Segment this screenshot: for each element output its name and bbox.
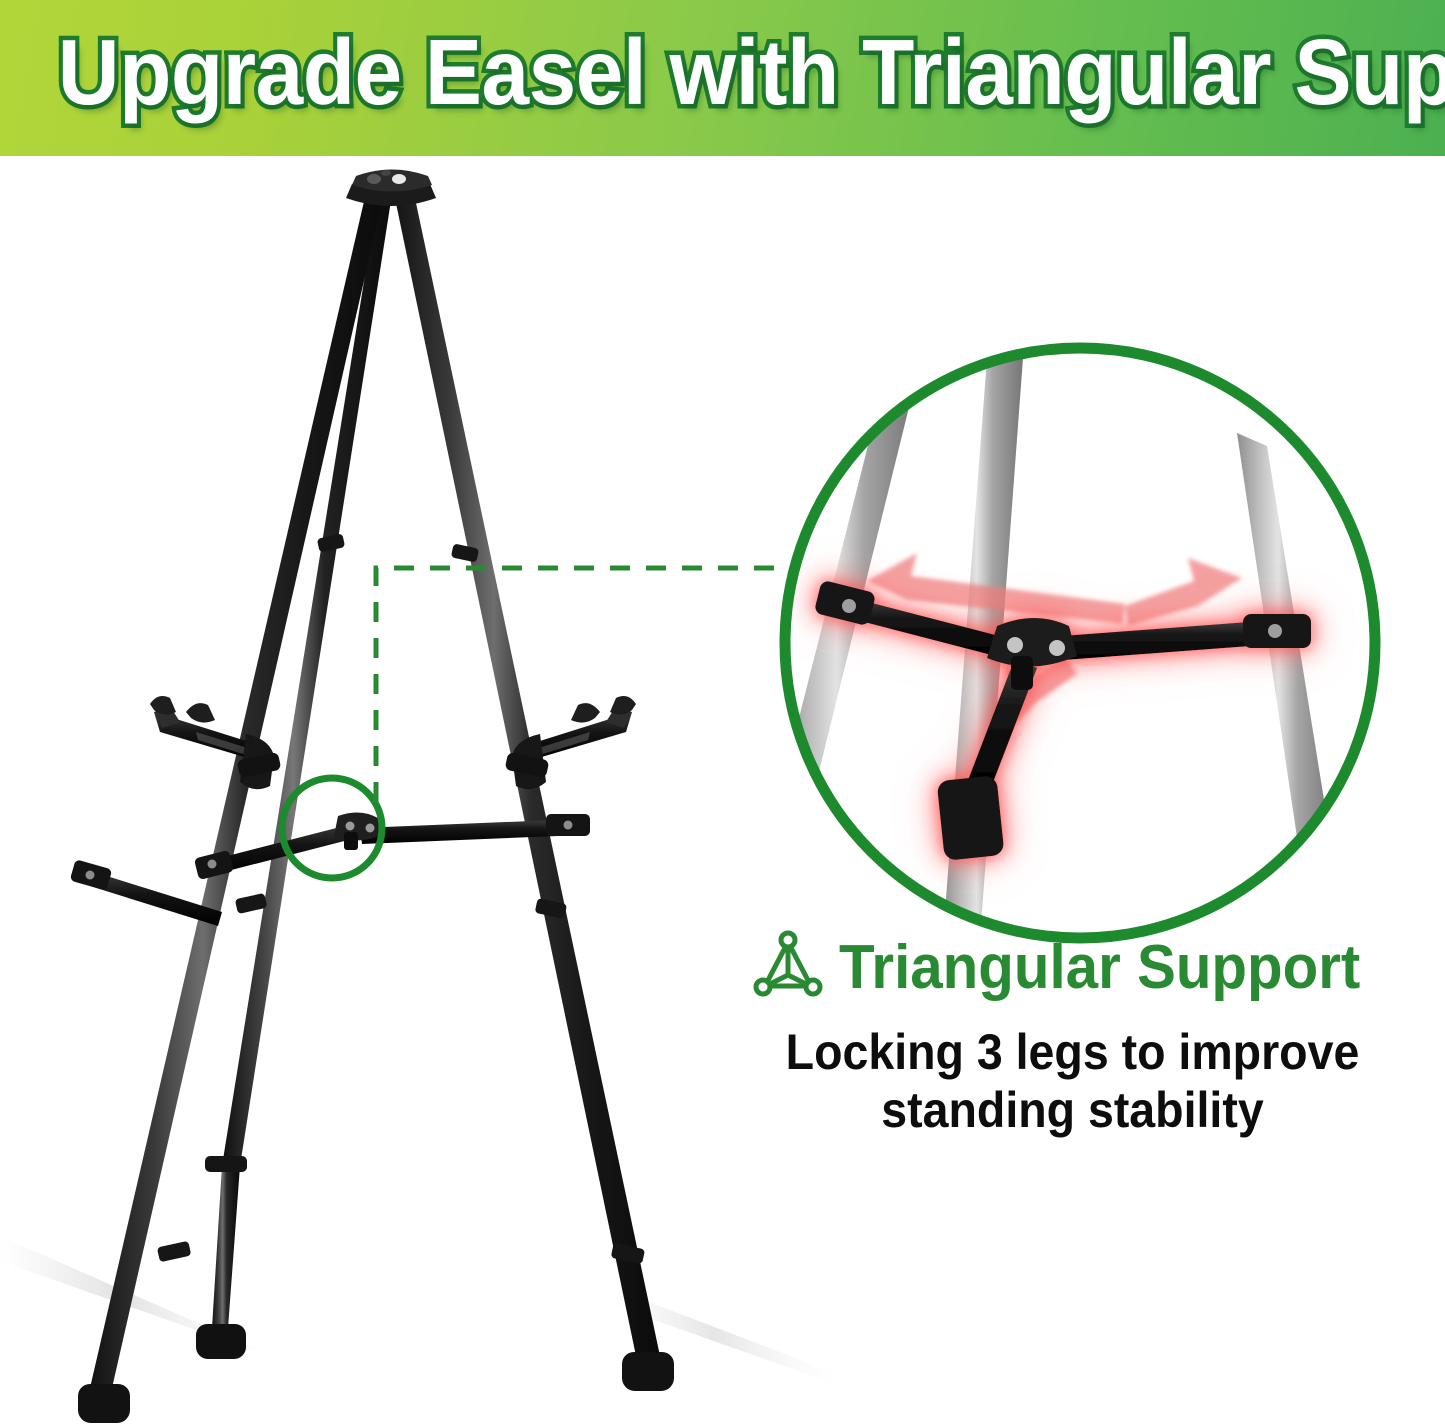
rear-leg — [196, 194, 392, 1359]
triangular-support-brace — [70, 812, 590, 926]
easel-product-illustration — [0, 156, 840, 1428]
feature-subtext: Locking 3 legs to improve standing stabi… — [726, 1023, 1419, 1139]
top-hub — [346, 170, 436, 207]
feature-subtext-line1: Locking 3 legs to improve — [726, 1023, 1419, 1081]
feature-heading: Triangular Support — [839, 933, 1360, 1003]
triangular-support-icon — [751, 928, 825, 1007]
header-banner: Upgrade Easel with Triangular Support — [0, 0, 1445, 156]
feature-subtext-line2: standing stability — [726, 1081, 1419, 1139]
right-canvas-holder — [505, 696, 636, 789]
triangular-support-detail-inset — [775, 338, 1385, 948]
product-feature-image: Upgrade Easel with Triangular Support — [0, 0, 1445, 1428]
page-title: Upgrade Easel with Triangular Support — [58, 22, 1387, 122]
feature-caption-block: Triangular Support Locking 3 legs to imp… — [700, 928, 1445, 1139]
